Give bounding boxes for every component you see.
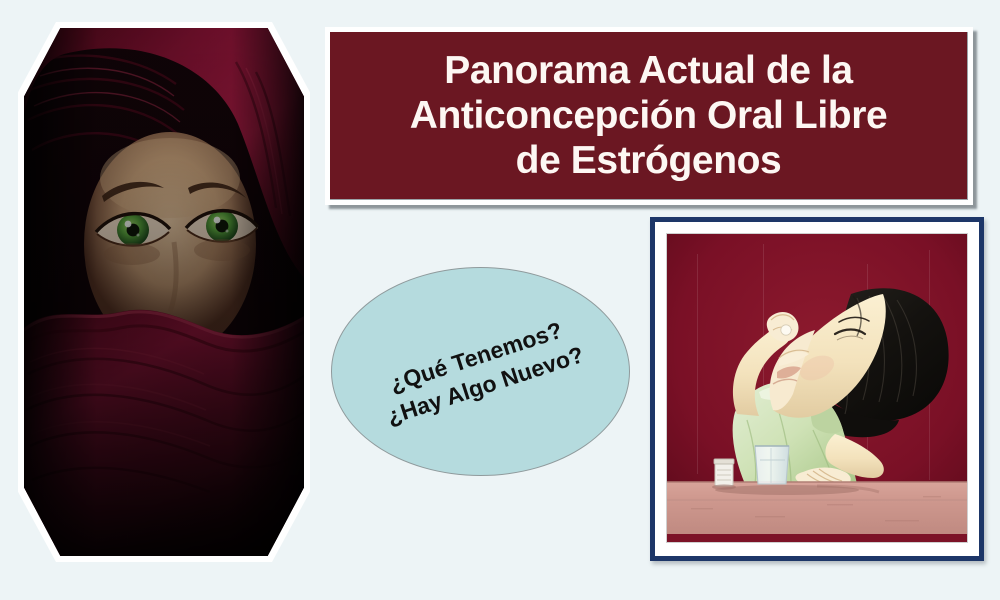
woman-with-scarf-illustration [24,28,304,556]
illustration-image [666,233,968,543]
woman-taking-pill-illustration [667,234,967,534]
illustration-matte [655,222,979,556]
slide-title-banner-fill: Panorama Actual de la Anticoncepción Ora… [330,32,968,200]
page-title: Panorama Actual de la Anticoncepción Ora… [400,48,898,184]
photo-left-image [24,28,304,556]
photo-left-frame [18,22,310,562]
illustration-frame [650,217,984,561]
slide-title-banner: Panorama Actual de la Anticoncepción Ora… [325,27,973,205]
presentation-slide: Panorama Actual de la Anticoncepción Ora… [0,0,1000,600]
question-callout-text: ¿Qué Tenemos? ¿Hay Algo Nuevo? [374,311,588,432]
question-callout-oval: ¿Qué Tenemos? ¿Hay Algo Nuevo? [331,267,630,476]
